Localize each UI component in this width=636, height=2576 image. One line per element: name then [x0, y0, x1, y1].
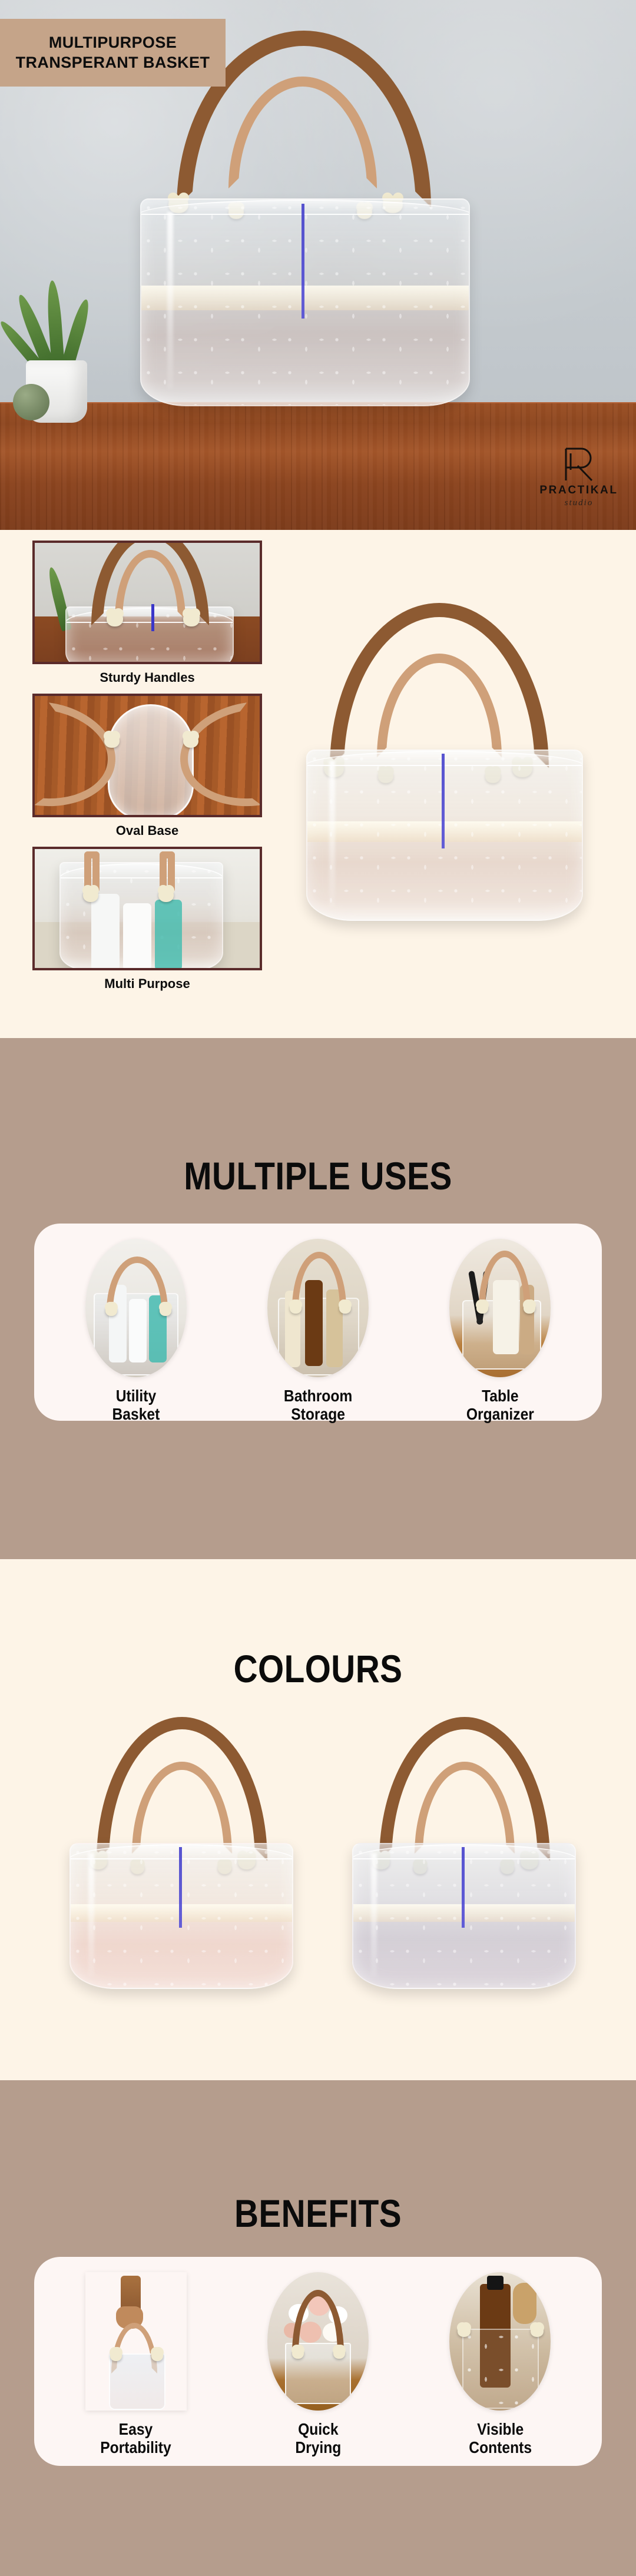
bathroom-storage-image — [267, 1239, 369, 1377]
benefit-label: Quick Drying — [295, 2420, 341, 2457]
hero-title-banner: MULTIPURPOSE TRANSPERANT BASKET — [0, 19, 226, 87]
sturdy-handles-image — [32, 541, 262, 664]
brand-logo: PRACTIKAL studio — [535, 435, 623, 519]
colour-variant-blue[interactable] — [352, 1753, 576, 1989]
feature-label: Sturdy Handles — [32, 664, 262, 685]
table-organizer-image — [449, 1239, 551, 1377]
feature-thumbnail[interactable]: Oval Base — [32, 694, 262, 838]
colour-variants-row — [0, 1736, 636, 2066]
benefits-card: Easy Portability — [34, 2257, 602, 2466]
feature-thumbnail[interactable]: Multi Purpose — [32, 847, 262, 992]
features-product-image — [283, 550, 612, 962]
decorative-sphere — [13, 384, 49, 420]
features-section: Sturdy Handles Oval Base — [0, 530, 636, 1038]
benefit-label: Visible Contents — [469, 2420, 532, 2457]
potted-plant — [13, 281, 101, 423]
multiple-uses-section: MULTIPLE USES Utility Basket — [0, 1038, 636, 1559]
colour-variant-pink[interactable] — [69, 1753, 293, 1989]
feature-label: Oval Base — [32, 817, 262, 838]
use-item[interactable]: Utility Basket — [57, 1239, 216, 1424]
pr-monogram-icon — [558, 446, 600, 483]
benefit-item[interactable]: Visible Contents — [420, 2272, 579, 2457]
hero-title-line2: TRANSPERANT BASKET — [16, 54, 210, 72]
feature-thumbnail[interactable]: Sturdy Handles — [32, 541, 262, 685]
use-label: Utility Basket — [112, 1387, 160, 1424]
quick-drying-image — [267, 2272, 369, 2411]
benefit-label: Easy Portability — [100, 2420, 171, 2457]
multi-purpose-image — [32, 847, 262, 970]
feature-label: Multi Purpose — [32, 970, 262, 992]
feature-thumbnail-column: Sturdy Handles Oval Base — [32, 541, 262, 1000]
hero-title-line1: MULTIPURPOSE — [49, 34, 177, 52]
hero-product-basket — [140, 71, 470, 406]
brand-tagline: studio — [565, 498, 594, 508]
visible-contents-image — [449, 2272, 551, 2411]
colours-section: COLOURS — [0, 1559, 636, 2080]
benefits-section: BENEFITS Easy Portability — [0, 2080, 636, 2576]
benefit-item[interactable]: Quick Drying — [238, 2272, 397, 2457]
hero-section: MULTIPURPOSE TRANSPERANT BASKET PRACTIKA… — [0, 0, 636, 530]
benefits-heading: BENEFITS — [45, 2080, 592, 2236]
use-label: Bathroom Storage — [284, 1387, 352, 1424]
use-label: Table Organizer — [466, 1387, 534, 1424]
multiple-uses-heading: MULTIPLE USES — [45, 1038, 592, 1198]
easy-portability-image — [85, 2272, 187, 2411]
oval-base-image — [32, 694, 262, 817]
use-item[interactable]: Bathroom Storage — [238, 1239, 397, 1424]
uses-card: Utility Basket Bathroom Storage — [34, 1224, 602, 1421]
utility-basket-image — [85, 1239, 187, 1377]
brand-name: PRACTIKAL — [539, 484, 618, 497]
colours-heading: COLOURS — [45, 1559, 592, 1691]
benefit-item[interactable]: Easy Portability — [57, 2272, 216, 2457]
use-item[interactable]: Table Organizer — [420, 1239, 579, 1424]
product-listing-page: MULTIPURPOSE TRANSPERANT BASKET PRACTIKA… — [0, 0, 636, 2576]
